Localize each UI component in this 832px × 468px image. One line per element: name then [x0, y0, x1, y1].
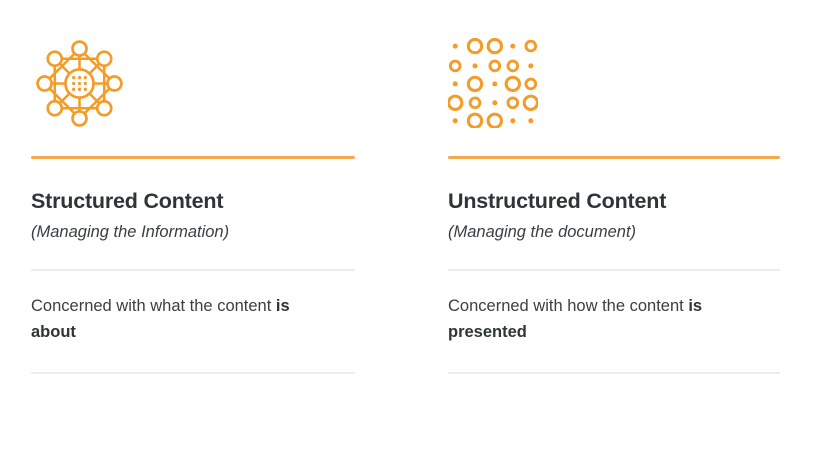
column-title-left: Structured Content	[31, 189, 355, 214]
column-body-left-prefix: Concerned with what the content	[31, 297, 276, 315]
accent-divider-left	[31, 156, 355, 159]
comparison-diagram: Structured Content (Managing the Informa…	[0, 0, 832, 468]
columns-container: Structured Content (Managing the Informa…	[0, 0, 832, 468]
column-subtitle-left: (Managing the Information)	[31, 223, 355, 243]
column-structured-content: Structured Content (Managing the Informa…	[0, 0, 424, 468]
accent-divider-right	[448, 156, 780, 159]
column-unstructured-content: Unstructured Content (Managing the docum…	[424, 0, 832, 468]
dot-grid-icon	[448, 38, 538, 128]
soft-divider-right-top	[448, 269, 780, 271]
column-body-left: Concerned with what the content is about	[31, 293, 331, 346]
icon-area-left	[31, 0, 355, 156]
soft-divider-left-bottom	[31, 372, 355, 374]
soft-divider-right-bottom	[448, 372, 780, 374]
column-subtitle-right: (Managing the document)	[448, 223, 780, 243]
icon-area-right	[448, 0, 780, 156]
network-hub-icon	[31, 35, 128, 132]
column-body-right: Concerned with how the content is presen…	[448, 293, 748, 346]
column-title-right: Unstructured Content	[448, 189, 780, 214]
soft-divider-left-top	[31, 269, 355, 271]
column-body-right-prefix: Concerned with how the content	[448, 297, 688, 315]
